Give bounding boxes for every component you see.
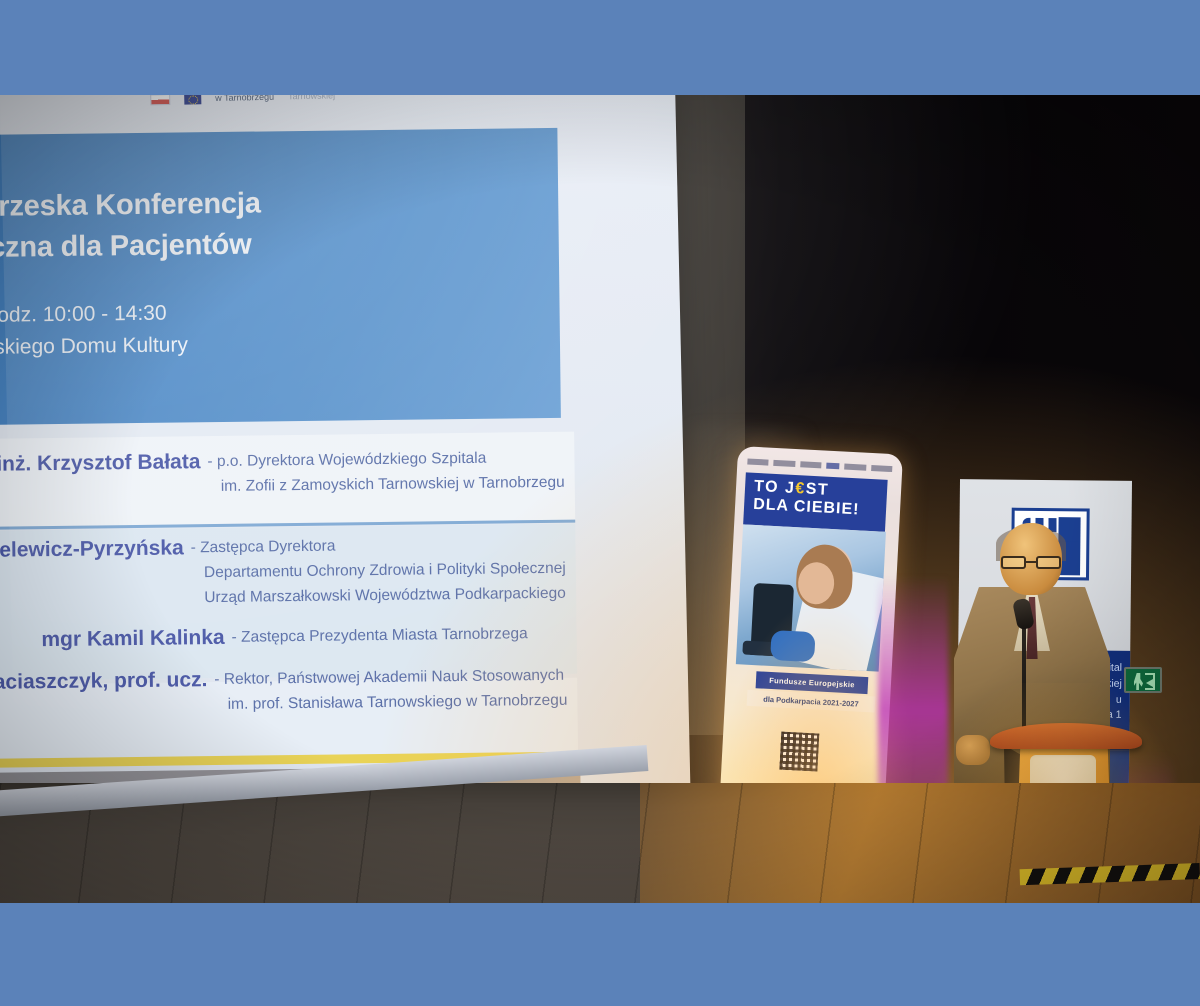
speaker-role-line: - Zastępca Prezydenta Miasta Tarnobrzega xyxy=(231,622,527,650)
eu-flag-icon xyxy=(826,462,839,469)
speaker-hand xyxy=(956,735,990,765)
slide-title-block: obrzeska Konferencja giczna dla Pacjentó… xyxy=(0,128,561,426)
speaker-row: mgr inż. Krzysztof Bałata - p.o. Dyrekto… xyxy=(0,446,565,504)
speaker-name: na Obutelewicz-Pyrzyńska xyxy=(0,536,184,564)
speaker-role-line: im. Zofii z Zamoyskich Tarnowskiej w Tar… xyxy=(221,471,565,500)
qr-code-icon xyxy=(779,732,819,772)
speaker-role-line: Urząd Marszałkowski Województwa Podkarpa… xyxy=(204,581,566,610)
slide-title: obrzeska Konferencja giczna dla Pacjentó… xyxy=(0,180,549,269)
slide-top-logos: w Tarnobrzegu Tarnowskiej xyxy=(0,95,675,118)
podium-desktop xyxy=(990,723,1142,749)
exit-sign xyxy=(1124,667,1162,693)
slide-subtitle: w godz. 10:00 - 14:30 rzeskiego Domu Kul… xyxy=(0,293,550,364)
slide-top-logo-text: w Tarnobrzegu xyxy=(215,95,274,103)
speaker-glasses-icon xyxy=(1001,556,1061,569)
speaker-role-line: im. prof. Stanisława Tarnowskiego w Tarn… xyxy=(228,689,568,718)
conference-photo: w Tarnobrzegu Tarnowskiej obrzeska Konfe… xyxy=(0,95,1200,903)
speaker-name: Paweł Maciaszczyk, prof. ucz. xyxy=(0,668,208,696)
speaker-row: Paweł Maciaszczyk, prof. ucz. - Rektor, … xyxy=(0,664,568,722)
rollup-headline-part-2: ST xyxy=(805,481,829,499)
slide-speaker-list: mgr inż. Krzysztof Bałata - p.o. Dyrekto… xyxy=(0,432,578,761)
speaker-row: na Obutelewicz-Pyrzyńska - Zastępca Dyre… xyxy=(0,532,566,615)
speaker-role: - Zastępca Dyrektora Departamentu Ochron… xyxy=(191,532,567,611)
speaker-name: mgr inż. Krzysztof Bałata xyxy=(0,450,201,478)
speaker-name: mgr Kamil Kalinka xyxy=(0,626,225,654)
slide-subtitle-line-2: rzeskiego Domu Kultury xyxy=(0,325,550,364)
slide-title-line-1: obrzeska Konferencja xyxy=(0,180,548,228)
photo-frame: w Tarnobrzegu Tarnowskiej obrzeska Konfe… xyxy=(0,0,1200,1006)
speaker-role: - Rektor, Państwowej Akademii Nauk Stoso… xyxy=(214,664,567,718)
rollup-headline-part-1: TO J xyxy=(754,478,796,497)
eu-flag-icon xyxy=(184,95,201,104)
rollup-headline: TO J€ST DLA CIEBIE! xyxy=(743,472,888,531)
slide-title-line-2: giczna dla Pacjentów xyxy=(0,221,549,269)
speaker-role-line: Departamentu Ochrony Zdrowia i Polityki … xyxy=(204,557,566,586)
slide-top-logo-text-2: Tarnowskiej xyxy=(288,95,335,101)
speaker-role: - Zastępca Prezydenta Miasta Tarnobrzega xyxy=(231,622,527,650)
rollup-lab-photo xyxy=(736,524,886,671)
speaker-role: - p.o. Dyrektora Wojewódzkiego Szpitala … xyxy=(207,446,565,500)
poland-flag-icon xyxy=(150,95,170,105)
